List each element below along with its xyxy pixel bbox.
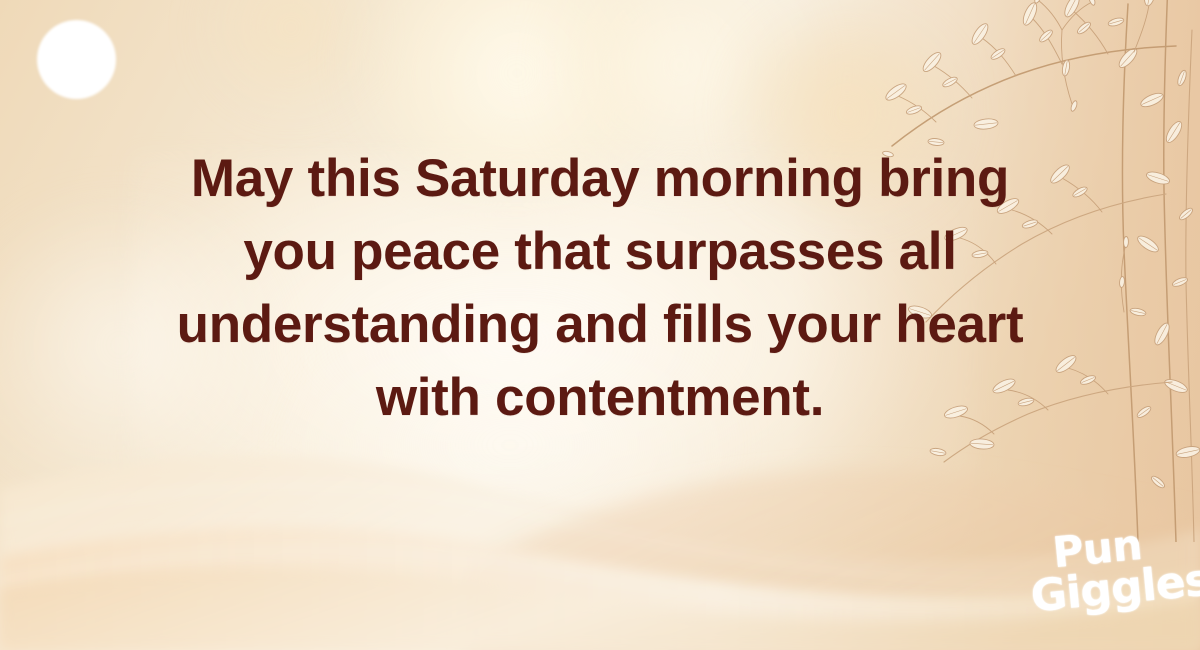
- brand-logo[interactable]: Pun Giggles: [1025, 520, 1200, 645]
- sun-icon: [37, 20, 116, 99]
- brand-logo-line-giggles: Giggles: [1029, 560, 1200, 618]
- quote-text: May this Saturday morning bring you peac…: [100, 142, 1100, 434]
- quote-card-canvas: .stem { fill:none; stroke:#C29A70; strok…: [0, 0, 1200, 650]
